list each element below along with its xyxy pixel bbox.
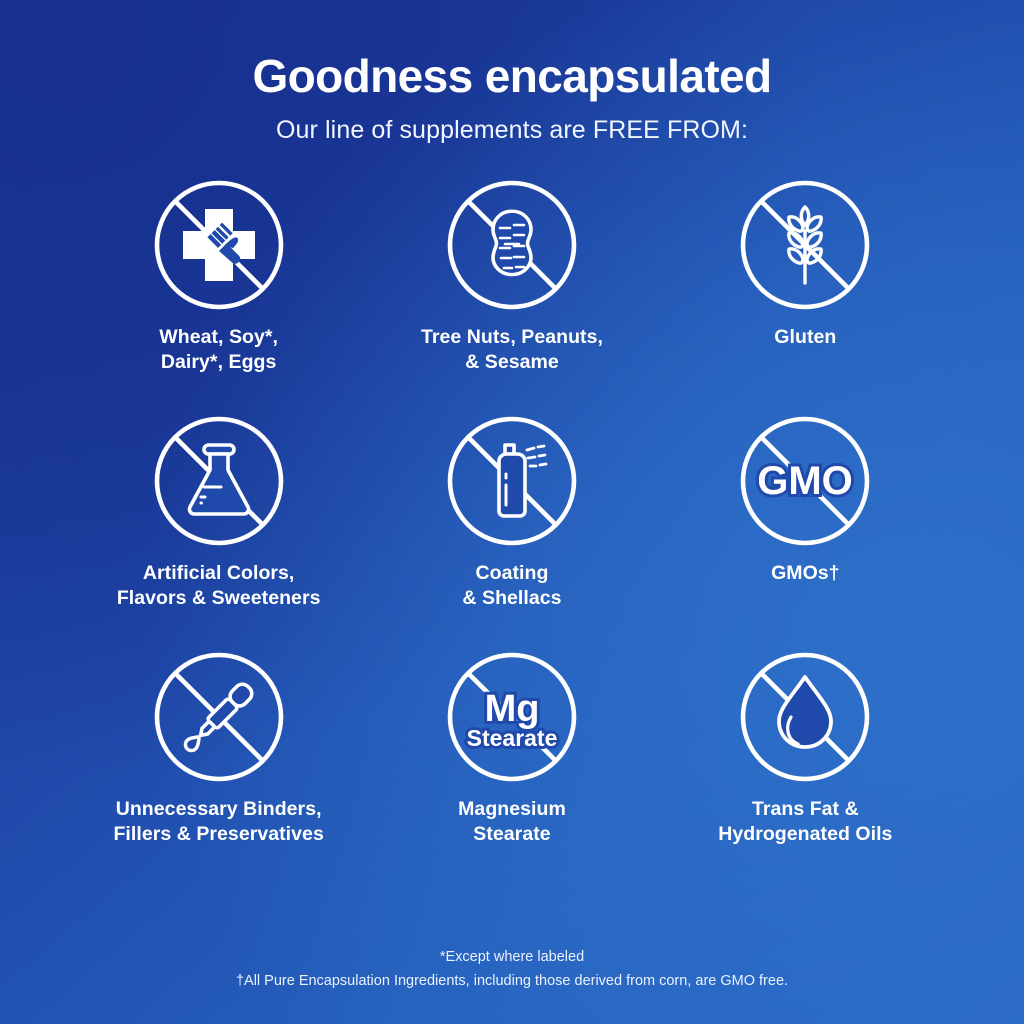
no-oil-droplet-icon [741,653,869,781]
free-from-item-nuts: Tree Nuts, Peanuts, & Sesame [365,181,658,417]
footnote-dagger: †All Pure Encapsulation Ingredients, inc… [0,970,1024,994]
free-from-item-gluten: Gluten [659,181,952,417]
free-from-item-coating: Coating & Shellacs [365,417,658,653]
no-gmo-text-icon: GMO [741,417,869,545]
free-from-item-artificial-colors: Artificial Colors, Flavors & Sweeteners [72,417,365,653]
free-from-item-label: Tree Nuts, Peanuts, & Sesame [421,325,603,375]
free-from-item-label: Magnesium Stearate [458,797,566,847]
no-flask-icon [155,417,283,545]
free-from-item-mg-stearate: Mg Stearate Magnesium Stearate [365,653,658,889]
free-from-item-label: Trans Fat & Hydrogenated Oils [718,797,892,847]
no-dropper-icon [155,653,283,781]
page-title: Goodness encapsulated [0,52,1024,100]
no-wheat-stalk-icon [741,181,869,309]
free-from-item-gmo: GMO GMOs† [659,417,952,653]
free-from-grid: Wheat, Soy*, Dairy*, Eggs [72,181,952,889]
free-from-item-allergens: Wheat, Soy*, Dairy*, Eggs [72,181,365,417]
free-from-item-label: Unnecessary Binders, Fillers & Preservat… [113,797,323,847]
free-from-item-trans-fat: Trans Fat & Hydrogenated Oils [659,653,952,889]
footnote-asterisk: *Except where labeled [0,946,1024,970]
page-subtitle: Our line of supplements are FREE FROM: [0,116,1024,145]
stearate-inner-text: Stearate [467,725,558,751]
no-mg-stearate-text-icon: Mg Stearate [448,653,576,781]
infographic-page: Goodness encapsulated Our line of supple… [0,0,1024,1024]
footnotes: *Except where labeled †All Pure Encapsul… [0,946,1024,994]
no-peanut-icon [448,181,576,309]
mg-inner-text: Mg [485,688,540,730]
free-from-item-label: Wheat, Soy*, Dairy*, Eggs [159,325,278,375]
no-allergen-cross-fork-icon [155,181,283,309]
free-from-item-label: Gluten [774,325,836,350]
header: Goodness encapsulated Our line of supple… [0,0,1024,145]
free-from-item-label: Coating & Shellacs [462,561,561,611]
free-from-item-label: GMOs† [771,561,840,586]
no-spray-can-icon [448,417,576,545]
gmo-inner-text: GMO [758,459,854,503]
free-from-item-label: Artificial Colors, Flavors & Sweeteners [117,561,321,611]
free-from-item-binders: Unnecessary Binders, Fillers & Preservat… [72,653,365,889]
